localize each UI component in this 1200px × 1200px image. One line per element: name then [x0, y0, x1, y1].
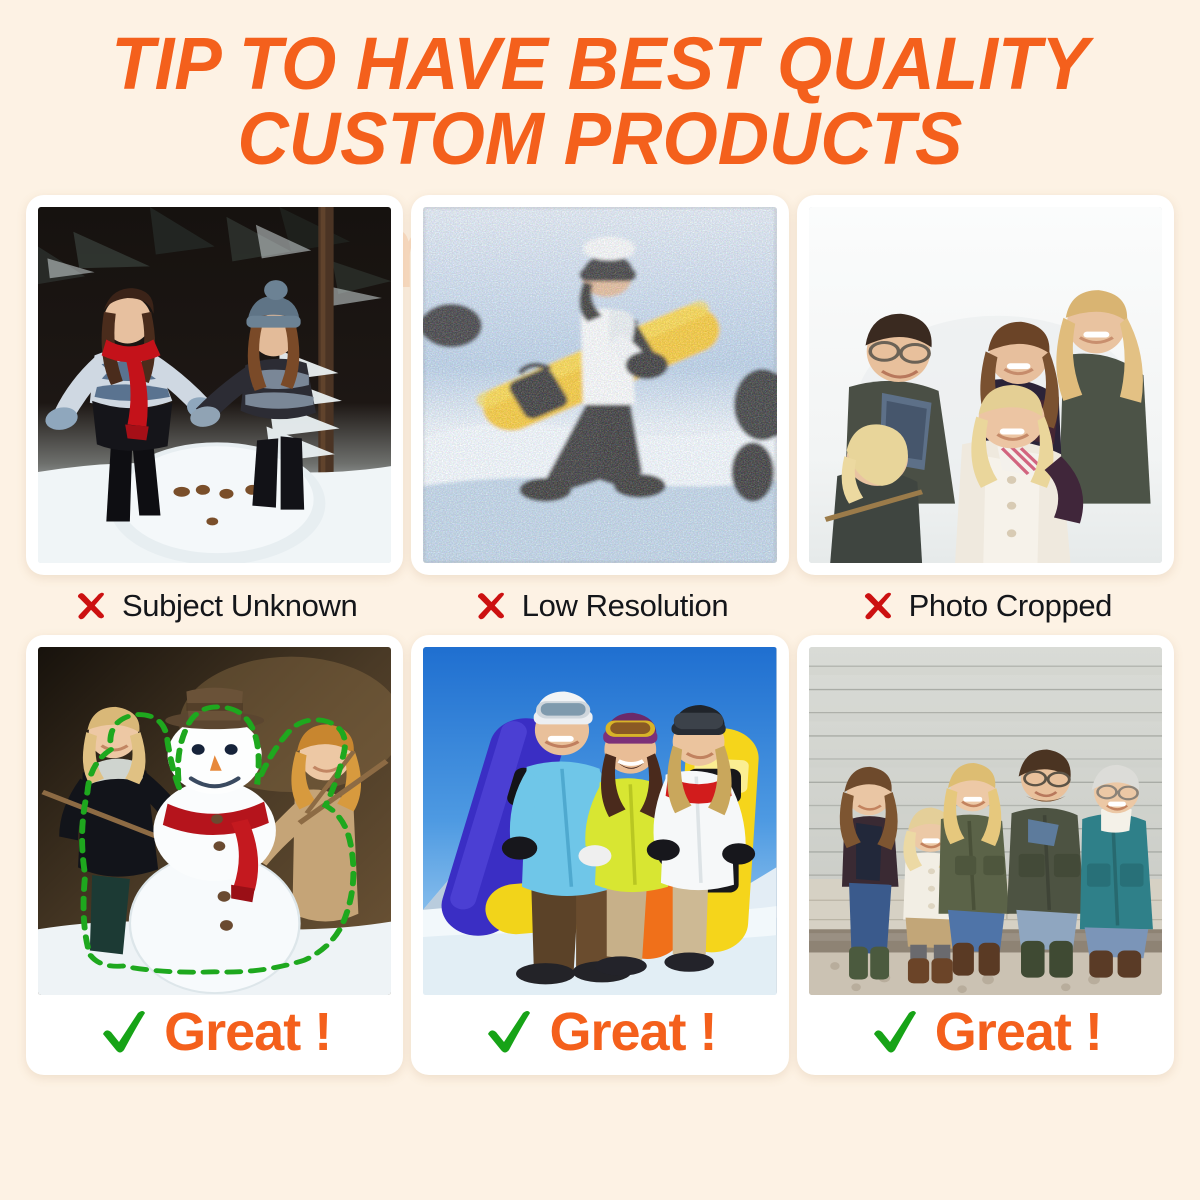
tip-label-great-snowman: Great !: [38, 995, 391, 1071]
tip-cell-great-family: Great !: [797, 635, 1174, 1075]
photo-photo-cropped: [809, 207, 1162, 563]
photo-great-snowman: [38, 647, 391, 995]
tip-cell-photo-cropped: Photo Cropped: [797, 195, 1174, 625]
green-check-icon: [869, 1006, 921, 1058]
photo-subject-unknown: [38, 207, 391, 563]
tip-label-great-snowboarders: Great !: [423, 995, 776, 1071]
tip-cell-great-snowboarders: Great !: [411, 635, 788, 1075]
tip-label-text: Low Resolution: [522, 588, 728, 624]
photo-card-great-family: Great !: [797, 635, 1174, 1075]
photo-great-family: [809, 647, 1162, 995]
tip-cell-low-resolution: Low Resolution: [411, 195, 788, 625]
red-x-icon: [72, 587, 110, 625]
tip-cell-subject-unknown: Subject Unknown: [26, 195, 403, 625]
tip-label-low-resolution: Low Resolution: [472, 587, 728, 625]
page-title: TIP TO HAVE BEST QUALITY CUSTOM PRODUCTS: [24, 0, 1176, 177]
tip-label-text: Great !: [164, 1005, 331, 1059]
photo-card-low-resolution: [411, 195, 788, 575]
tip-label-subject-unknown: Subject Unknown: [72, 587, 357, 625]
red-x-icon: [859, 587, 897, 625]
tip-label-text: Great !: [935, 1005, 1102, 1059]
photo-card-photo-cropped: [797, 195, 1174, 575]
green-check-icon: [483, 1006, 535, 1058]
photo-card-great-snowman: Great !: [26, 635, 403, 1075]
photo-card-great-snowboarders: Great !: [411, 635, 788, 1075]
red-x-icon: [472, 587, 510, 625]
tip-label-text: Subject Unknown: [122, 588, 357, 624]
tip-label-great-family: Great !: [809, 995, 1162, 1071]
tip-cell-great-snowman: Great !: [26, 635, 403, 1075]
tip-label-photo-cropped: Photo Cropped: [859, 587, 1112, 625]
photo-card-subject-unknown: [26, 195, 403, 575]
photo-great-snowboarders: [423, 647, 776, 995]
photo-low-resolution: [423, 207, 776, 563]
green-check-icon: [98, 1006, 150, 1058]
tip-label-text: Great !: [549, 1005, 716, 1059]
tips-grid: Subject Unknown: [0, 195, 1200, 1075]
page-title-line-1: TIP TO HAVE BEST QUALITY: [24, 26, 1176, 101]
page-title-line-2: CUSTOM PRODUCTS: [24, 101, 1176, 176]
tip-label-text: Photo Cropped: [909, 588, 1112, 624]
